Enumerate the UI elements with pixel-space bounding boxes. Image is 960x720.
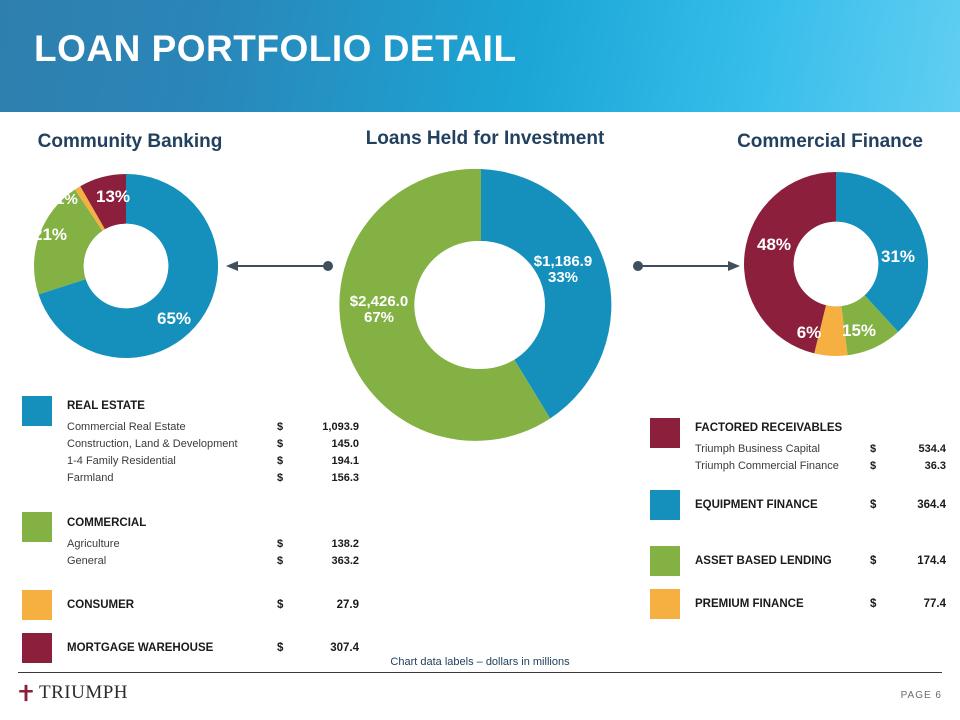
head-currency: $ (277, 599, 283, 611)
row-value: 534.4 (890, 443, 946, 455)
head-currency: $ (870, 598, 876, 610)
row-currency: $ (870, 443, 876, 455)
row-value: 138.2 (297, 538, 359, 550)
donut-hole (417, 241, 545, 369)
row-label: Agriculture (67, 538, 120, 550)
head-label: EQUIPMENT FINANCE (695, 499, 818, 511)
legend-swatch-consumer (22, 590, 52, 620)
legend-community-banking: REAL ESTATE Commercial Real Estate $ 1,0… (22, 396, 382, 658)
donut-right-svg (738, 166, 934, 362)
legend-commercial-finance: FACTORED RECEIVABLES Triumph Business Ca… (650, 418, 950, 628)
legend-swatch-commercial (22, 512, 52, 542)
legend-swatch-equipment-finance (650, 490, 680, 520)
cross-icon (16, 683, 36, 703)
row-value: 156.3 (297, 472, 359, 484)
chart-title-loans-held-for-investment: Loans Held for Investment (320, 128, 650, 150)
row-label: Farmland (67, 472, 113, 484)
legend-swatch-real-estate (22, 396, 52, 426)
chart-title-commercial-finance: Commercial Finance (700, 131, 960, 153)
legend-swatch-premium-finance (650, 589, 680, 619)
head-value: 307.4 (297, 642, 359, 654)
legend-swatch-factored-receivables (650, 418, 680, 448)
head-currency: $ (277, 642, 283, 654)
row-value: 363.2 (297, 555, 359, 567)
donut-left-svg (28, 168, 224, 364)
legend-head-consumer: CONSUMER $ 27.9 (67, 599, 357, 611)
head-currency: $ (870, 555, 876, 567)
legend-head-factored-receivables: FACTORED RECEIVABLES (695, 422, 842, 434)
head-value: 174.4 (890, 555, 946, 567)
legend-head-equipment-finance: EQUIPMENT FINANCE $ 364.4 (695, 499, 945, 511)
donut-chart-commercial-finance: 31% 15% 6% 48% (738, 166, 934, 362)
row-label: Commercial Real Estate (67, 421, 186, 433)
donut-hole (84, 224, 169, 309)
legend-head-commercial: COMMERCIAL (67, 517, 146, 529)
logo-wordmark: TRIUMPH (39, 682, 128, 704)
row-label: Triumph Commercial Finance (695, 460, 839, 472)
footer-divider (18, 672, 942, 673)
row-currency: $ (277, 538, 283, 550)
row-label: General (67, 555, 106, 567)
row-currency: $ (277, 438, 283, 450)
donut-chart-community-banking: 65% 21% 1% 13% (28, 168, 224, 364)
head-label: CONSUMER (67, 599, 134, 611)
row-label: Construction, Land & Development (67, 438, 238, 450)
head-value: 364.4 (890, 499, 946, 511)
row-value: 36.3 (890, 460, 946, 472)
head-value: 27.9 (297, 599, 359, 611)
head-label: MORTGAGE WAREHOUSE (67, 642, 213, 654)
legend-head-premium-finance: PREMIUM FINANCE $ 77.4 (695, 598, 945, 610)
connector-right-arrow (630, 258, 740, 279)
donut-hole (794, 222, 879, 307)
row-label: 1-4 Family Residential (67, 455, 176, 467)
triumph-logo: TRIUMPH (16, 682, 128, 704)
chart-footnote: Chart data labels – dollars in millions (0, 656, 960, 668)
head-label: PREMIUM FINANCE (695, 598, 804, 610)
row-currency: $ (870, 460, 876, 472)
head-currency: $ (870, 499, 876, 511)
row-currency: $ (277, 455, 283, 467)
page-number: PAGE 6 (901, 690, 942, 701)
legend-head-real-estate: REAL ESTATE (67, 400, 145, 412)
row-value: 1,093.9 (297, 421, 359, 433)
head-label: ASSET BASED LENDING (695, 555, 832, 567)
head-value: 77.4 (890, 598, 946, 610)
legend-head-asset-based-lending: ASSET BASED LENDING $ 174.4 (695, 555, 945, 567)
legend-head-mortgage-warehouse: MORTGAGE WAREHOUSE $ 307.4 (67, 642, 357, 654)
row-value: 194.1 (297, 455, 359, 467)
connector-left-arrow (226, 258, 336, 279)
row-label: Triumph Business Capital (695, 443, 820, 455)
row-value: 145.0 (297, 438, 359, 450)
legend-swatch-asset-based-lending (650, 546, 680, 576)
row-currency: $ (277, 421, 283, 433)
chart-title-community-banking: Community Banking (0, 131, 260, 153)
page-title: LOAN PORTFOLIO DETAIL (34, 28, 517, 70)
row-currency: $ (277, 472, 283, 484)
row-currency: $ (277, 555, 283, 567)
slide-header-band: LOAN PORTFOLIO DETAIL (0, 0, 960, 112)
